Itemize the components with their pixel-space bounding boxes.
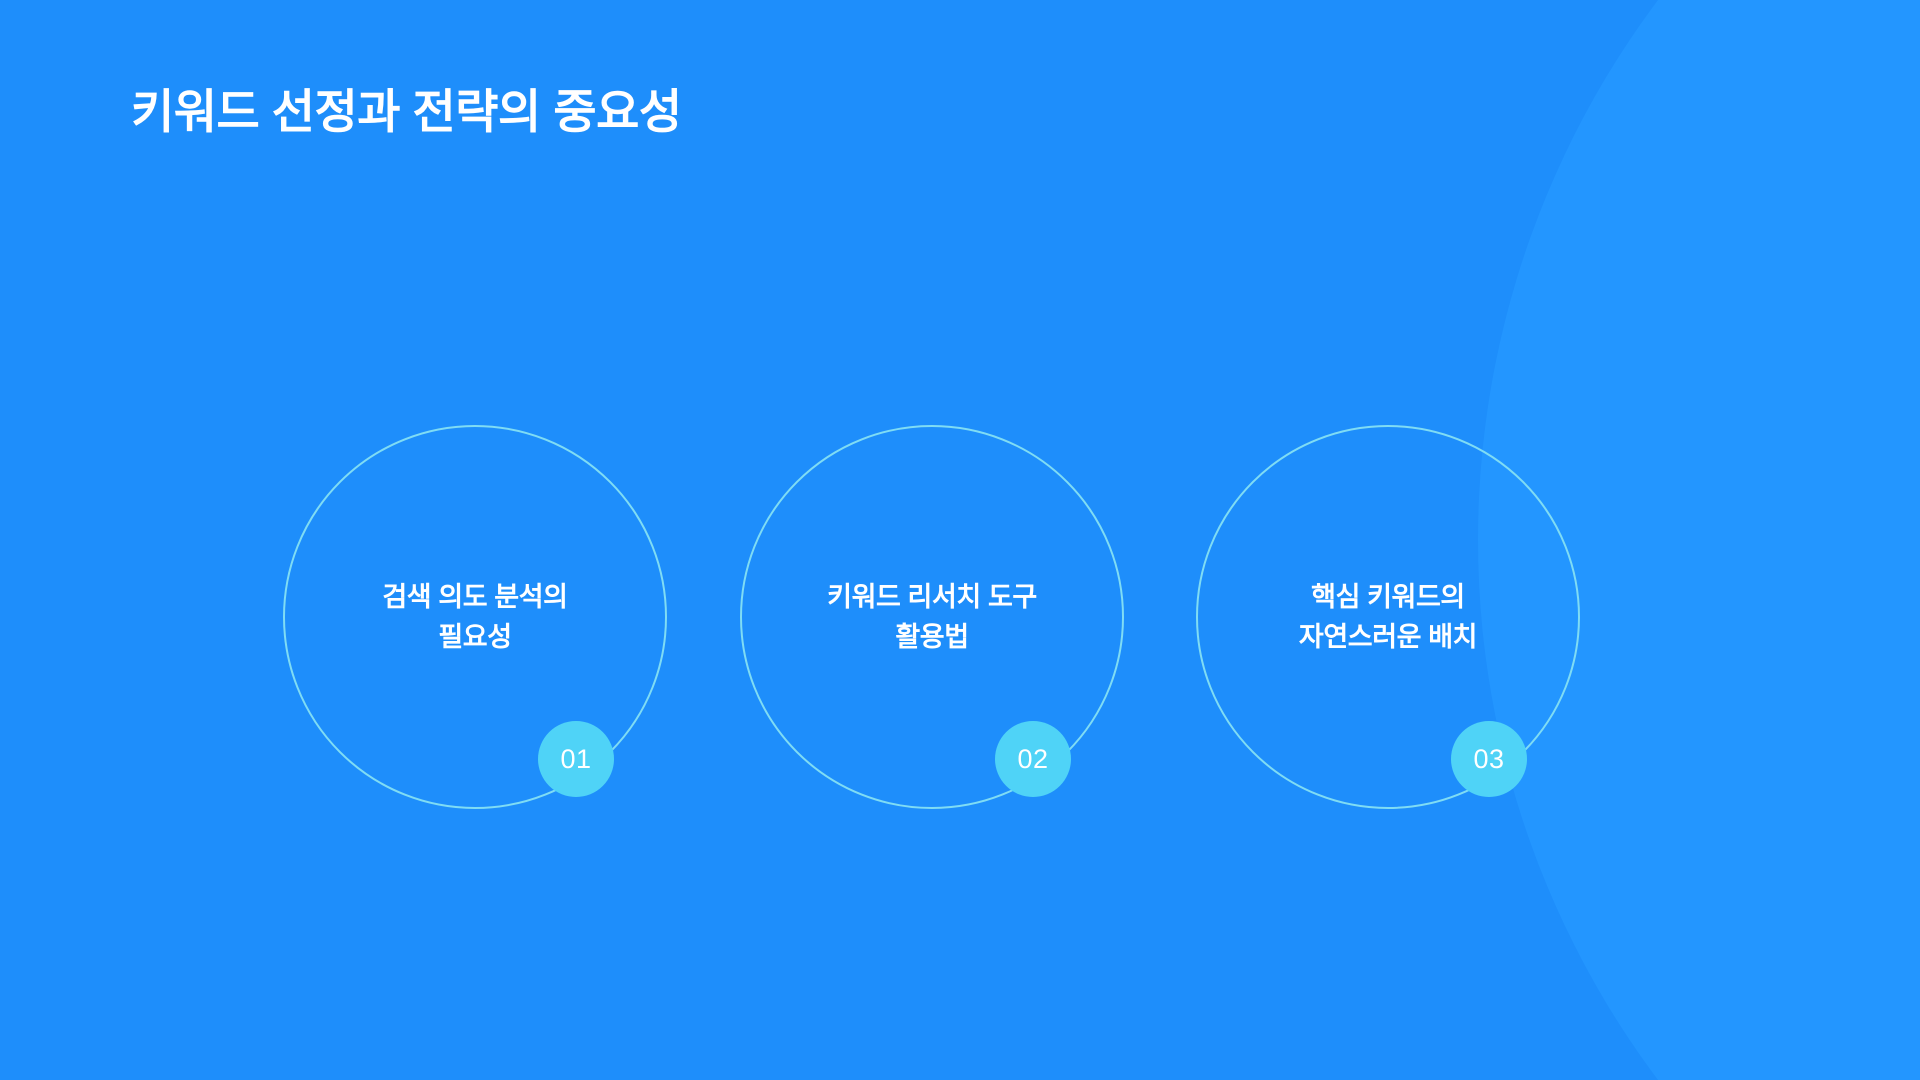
circle-item-03[interactable]: 핵심 키워드의 자연스러운 배치 03 — [1196, 425, 1580, 809]
circle-item-number-badge[interactable]: 01 — [538, 721, 614, 797]
circle-item-number-badge[interactable]: 02 — [995, 721, 1071, 797]
presentation-slide: 키워드 선정과 전략의 중요성 검색 의도 분석의 필요성 01 키워드 리서치… — [0, 0, 1920, 1080]
circle-item-01[interactable]: 검색 의도 분석의 필요성 01 — [283, 425, 667, 809]
circle-item-number-badge[interactable]: 03 — [1451, 721, 1527, 797]
circle-item-02[interactable]: 키워드 리서치 도구 활용법 02 — [740, 425, 1124, 809]
circle-items-group: 검색 의도 분석의 필요성 01 키워드 리서치 도구 활용법 02 핵심 키워… — [0, 0, 1920, 1080]
